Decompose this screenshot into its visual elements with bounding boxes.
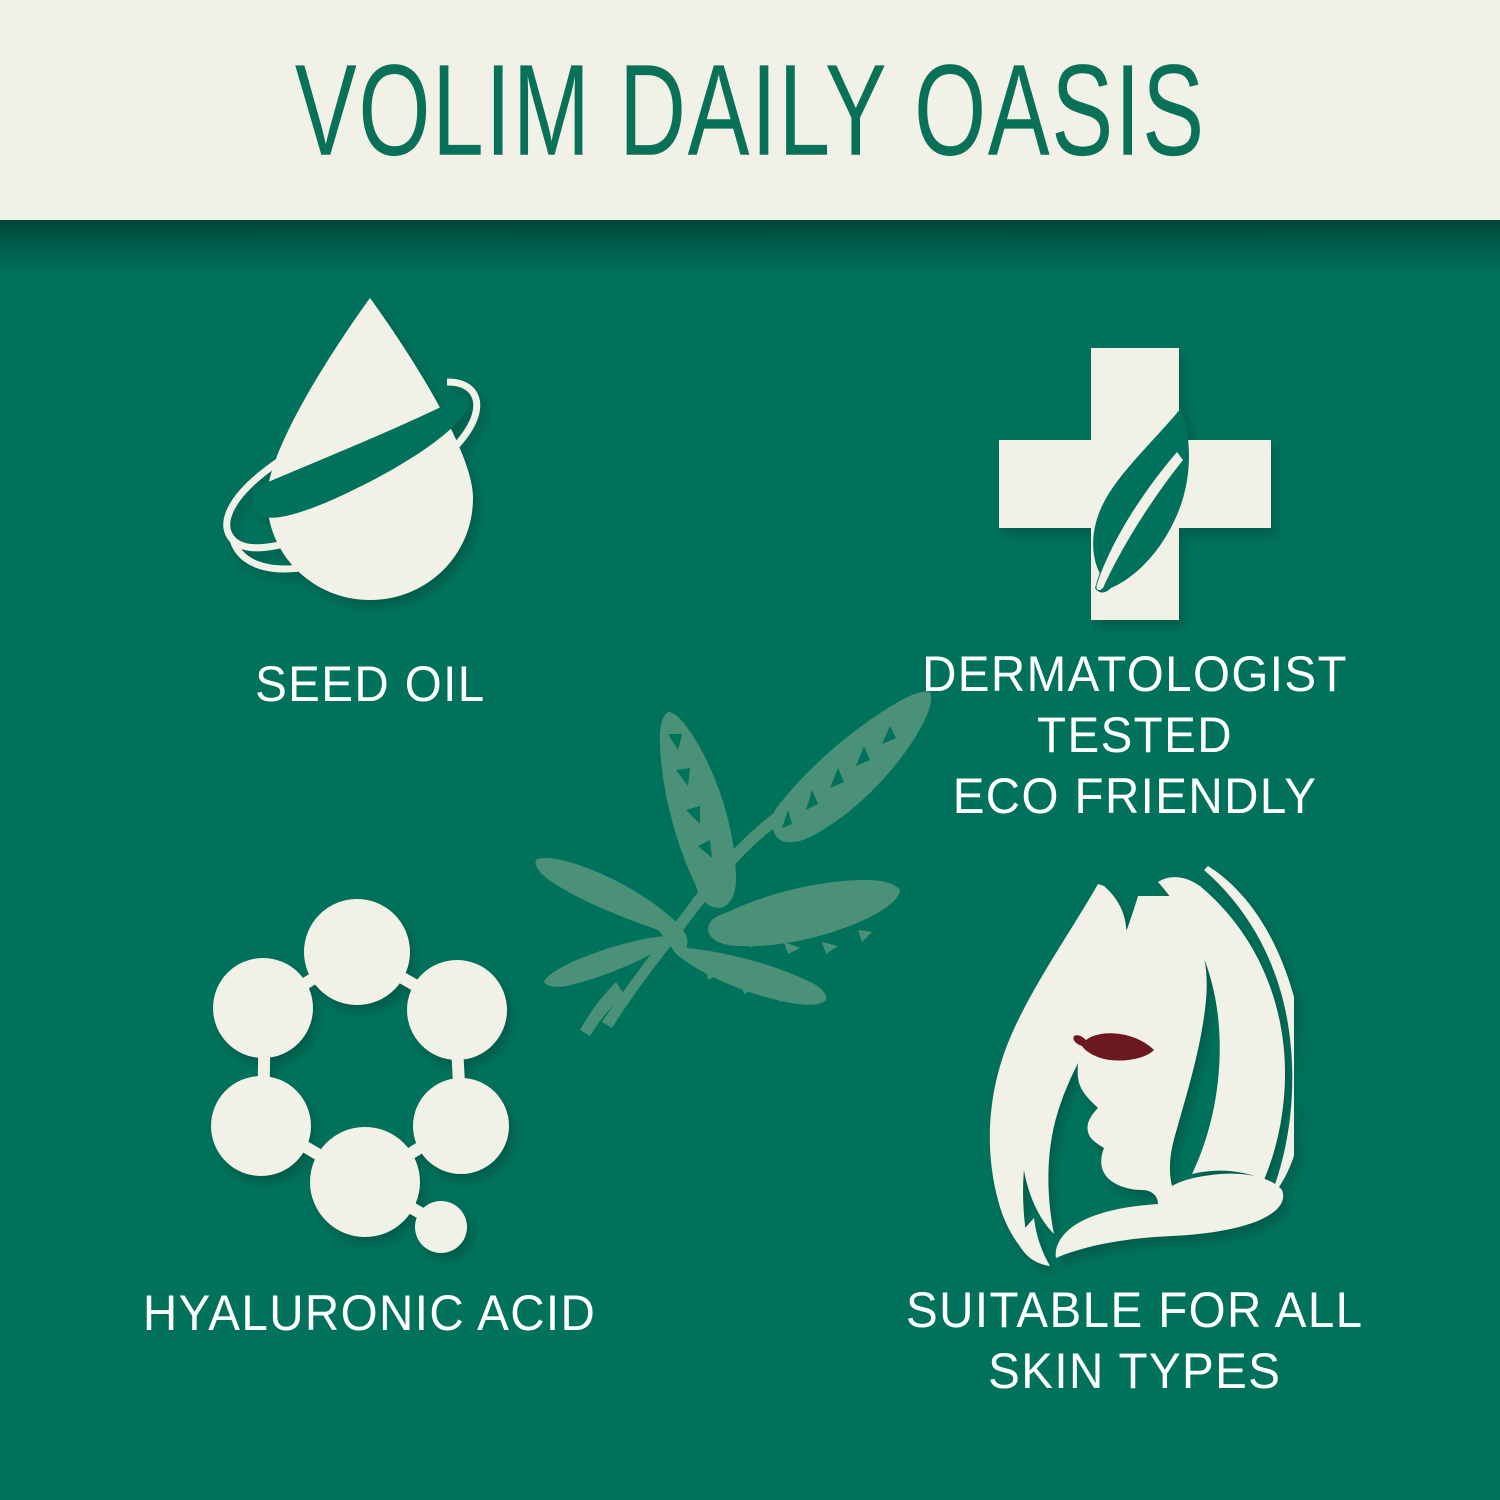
medical-cross-leaf-icon (999, 348, 1271, 620)
feature-label-seed-oil: SEED OIL (255, 654, 486, 715)
product-feature-poster: VOLIM DAILY OASIS (0, 0, 1500, 1500)
icon-container-hyaluronic (205, 865, 535, 1265)
feature-seed-oil: SEED OIL (105, 290, 635, 715)
feature-label-dermatologist-tested: DERMATOLOGIST TESTED ECO FRIENDLY (831, 644, 1439, 827)
body-top-shadow (0, 220, 1500, 278)
icon-container-dermatologist (999, 290, 1271, 620)
feature-label-hyaluronic-acid: HYALURONIC ACID (143, 1283, 596, 1344)
feature-label-suitable-skin-types: SUITABLE FOR ALL SKIN TYPES (906, 1280, 1363, 1402)
page-title: VOLIM DAILY OASIS (295, 45, 1206, 175)
header-bar: VOLIM DAILY OASIS (0, 0, 1500, 220)
feature-hyaluronic-acid: HYALURONIC ACID (105, 865, 635, 1344)
icon-container-skin-types (976, 850, 1294, 1270)
molecule-hexagon-icon (205, 890, 535, 1265)
feature-dermatologist-tested: DERMATOLOGIST TESTED ECO FRIENDLY (815, 290, 1455, 827)
woman-face-profile-icon (976, 860, 1294, 1270)
feature-suitable-skin-types: SUITABLE FOR ALL SKIN TYPES (815, 850, 1455, 1402)
icon-container-seed-oil (215, 290, 525, 620)
oil-droplet-icon (215, 290, 525, 620)
